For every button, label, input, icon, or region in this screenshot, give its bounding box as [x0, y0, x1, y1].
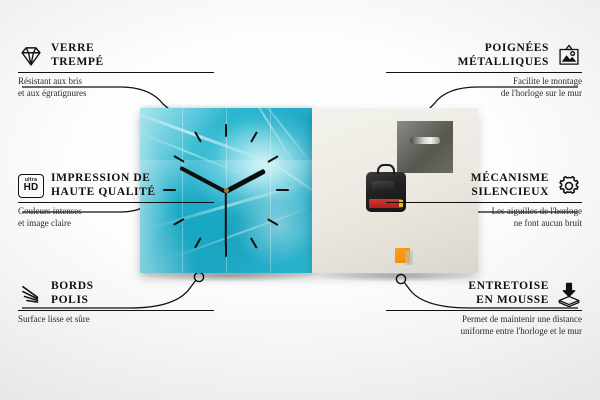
feature-subtitle: Surface lisse et sûre [18, 314, 214, 326]
hour-tick [194, 131, 202, 142]
gear-icon [556, 173, 582, 199]
hour-tick [276, 189, 289, 191]
picture-frame-hanger-icon [556, 43, 582, 69]
feature-mecanisme-silencieux: MÉCANISMESILENCIEUX Les aiguilles de l'h… [386, 172, 582, 229]
feature-head: POIGNÉESMÉTALLIQUES [386, 42, 582, 69]
hour-tick [250, 131, 258, 142]
metal-hanger-plate [397, 121, 453, 173]
feature-entretoise-en-mousse: ENTRETOISEEN MOUSSE Permet de maintenir … [386, 280, 582, 337]
feature-verre-trempe: VERRETREMPÉ Résistant aux briset aux égr… [18, 42, 214, 99]
feature-rule [18, 202, 214, 203]
feature-title: ENTRETOISEEN MOUSSE [468, 280, 549, 307]
feature-head: BORDSPOLIS [18, 280, 214, 307]
ultra-hd-icon: ultra HD [18, 174, 44, 198]
hand-center-cap [224, 188, 229, 193]
diamond-icon [18, 43, 44, 69]
feature-poignees-metalliques: POIGNÉESMÉTALLIQUES Facilite le montaged… [386, 42, 582, 99]
feature-impression-haute-qualite: ultra HD IMPRESSION DEHAUTE QUALITÉ Coul… [18, 172, 214, 229]
feature-subtitle: Les aiguilles de l'horlogene font aucun … [386, 206, 582, 229]
feature-rule [18, 72, 214, 73]
polished-edges-icon [18, 281, 44, 307]
foam-spacer [395, 248, 410, 263]
feature-rule [18, 310, 214, 311]
feature-title: VERRETREMPÉ [51, 42, 104, 69]
feature-subtitle: Permet de maintenir une distanceuniforme… [386, 314, 582, 337]
feature-rule [386, 310, 582, 311]
hour-tick [250, 237, 258, 248]
hour-tick [173, 155, 184, 163]
feature-head: ENTRETOISEEN MOUSSE [386, 280, 582, 307]
hour-tick [267, 218, 278, 226]
feature-title: BORDSPOLIS [51, 280, 94, 307]
feature-title: IMPRESSION DEHAUTE QUALITÉ [51, 172, 156, 199]
feature-rule [386, 202, 582, 203]
feature-subtitle: Facilite le montagede l'horloge sur le m… [386, 76, 582, 99]
feature-title: MÉCANISMESILENCIEUX [471, 172, 549, 199]
hour-tick [194, 237, 202, 248]
feature-subtitle: Résistant aux briset aux égratignures [18, 76, 214, 99]
feature-head: MÉCANISMESILENCIEUX [386, 172, 582, 199]
hanger-slot [410, 137, 440, 144]
second-hand [225, 191, 227, 247]
feature-bords-polis: BORDSPOLIS Surface lisse et sûre [18, 280, 214, 326]
hour-tick [225, 124, 227, 137]
infographic-canvas: VERRETREMPÉ Résistant aux briset aux égr… [0, 0, 600, 400]
hour-hand [225, 169, 266, 194]
hour-tick [267, 155, 278, 163]
feature-subtitle: Couleurs intenseset image claire [18, 206, 214, 229]
feature-rule [386, 72, 582, 73]
feature-title: POIGNÉESMÉTALLIQUES [458, 42, 549, 69]
arrow-down-onto-pad-icon [556, 281, 582, 307]
feature-head: VERRETREMPÉ [18, 42, 214, 69]
feature-head: ultra HD IMPRESSION DEHAUTE QUALITÉ [18, 172, 214, 199]
